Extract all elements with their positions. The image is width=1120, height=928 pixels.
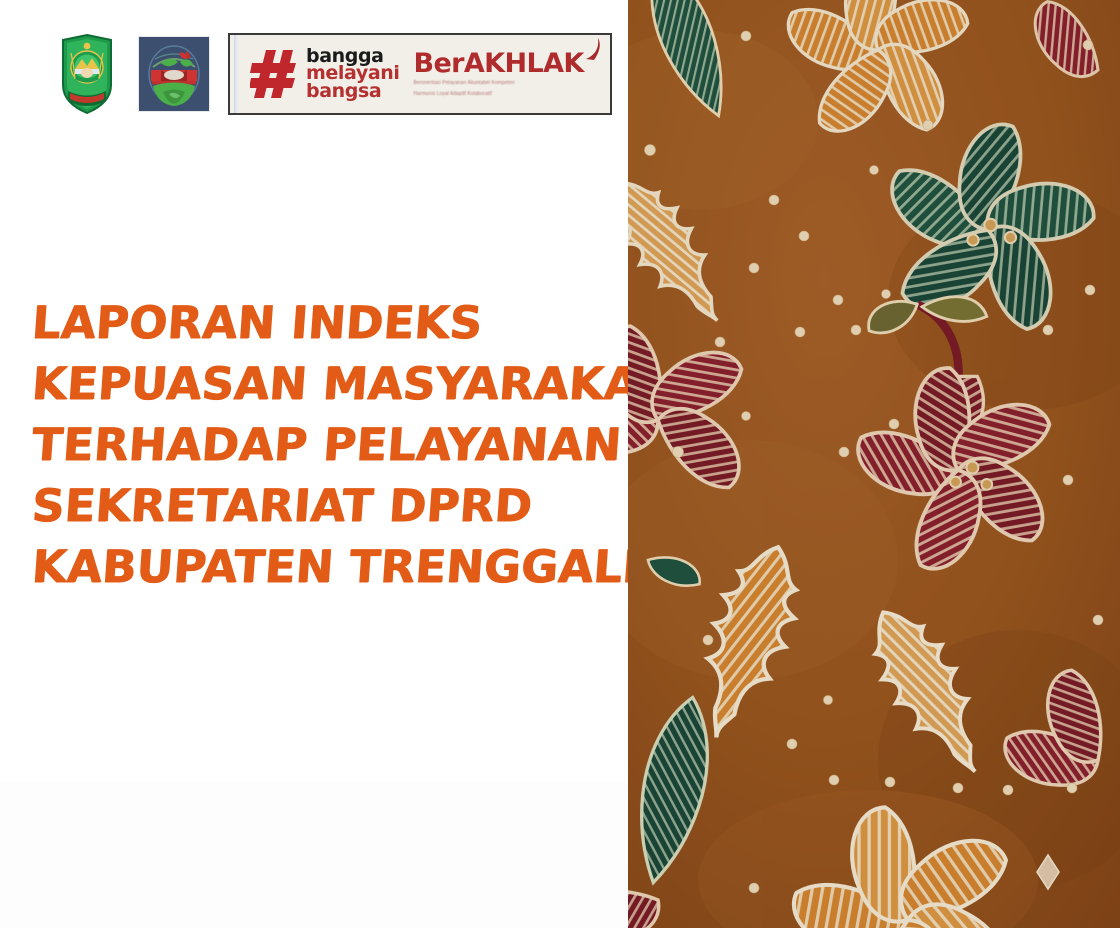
berakhlak-subtitle-line-2: Harmonis Loyal Adaptif Kolaboratif [413, 91, 604, 98]
berakhlak-slogan: bangga melayani bangsa [306, 48, 399, 100]
trenggalek-regency-emblem [58, 33, 116, 115]
berakhlak-subtitle-line-1: Berorientasi Pelayanan Akuntabel Kompete… [413, 80, 604, 87]
berakhlak-banner: bangga melayani bangsa BerAKHLAK Berorie… [228, 33, 612, 115]
slide-underlay [0, 782, 628, 928]
page-title: LAPORAN INDEKS KEPUASAN MASYARAKAT TERHA… [30, 292, 630, 597]
korpri-logo-icon [139, 37, 209, 111]
logo-bar: bangga melayani bangsa BerAKHLAK Berorie… [52, 28, 612, 120]
title-line-4: SEKRETARIAT DPRD [30, 475, 634, 536]
batik-panel [628, 0, 1120, 928]
berakhlak-wordmark: BerAKHLAK [413, 50, 604, 77]
berakhlak-swoosh-icon [584, 37, 604, 61]
title-line-3: TERHADAP PELAYANAN [30, 414, 634, 475]
title-line-1: LAPORAN INDEKS [30, 292, 634, 353]
cover-slide: bangga melayani bangsa BerAKHLAK Berorie… [0, 0, 1120, 928]
trenggalek-emblem-icon [58, 33, 116, 115]
berakhlak-wordmark-block: BerAKHLAK Berorientasi Pelayanan Akuntab… [413, 50, 610, 98]
title-line-5: KABUPATEN TRENGGALEK [30, 536, 634, 597]
batik-pattern [628, 0, 1120, 928]
hashtag-icon [250, 48, 298, 100]
title-line-2: KEPUASAN MASYARAKAT [30, 353, 634, 414]
slogan-line-3: bangsa [306, 83, 399, 100]
korpri-logo [138, 36, 210, 112]
